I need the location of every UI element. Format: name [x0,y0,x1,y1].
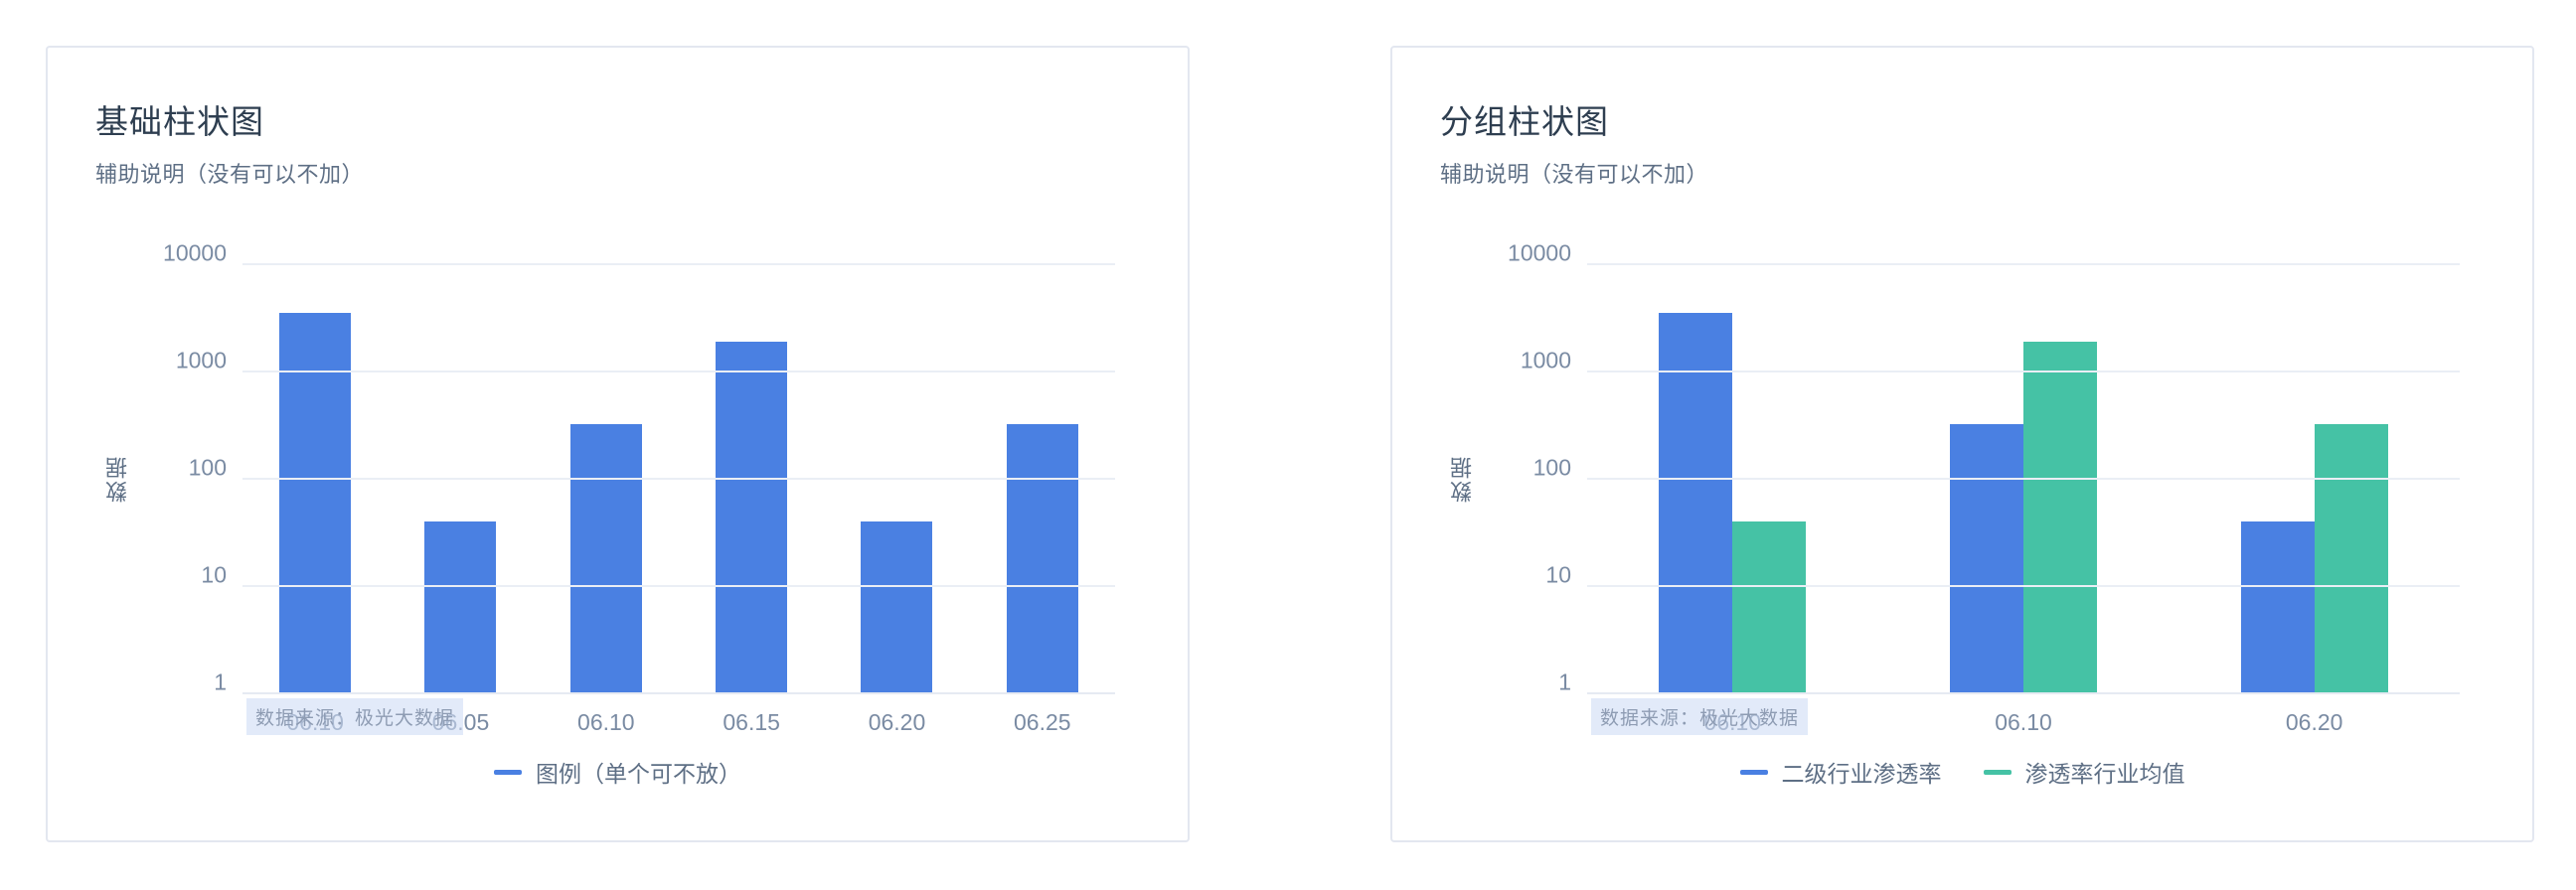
chart-card-grouped-bar: 分组柱状图 辅助说明（没有可以不加） 数据 110100100010000 06… [1390,46,2534,842]
page-root: 基础柱状图 辅助说明（没有可以不加） 数据 110100100010000 06… [0,0,2576,890]
chart-legend: 图例（单个可不放） [95,755,1140,789]
plot-area-grouped-bar [1587,264,2460,693]
y-axis-ticks: 110100100010000 [95,264,242,693]
x-axis-tick-label: 06.15 [679,709,824,736]
gridline [242,585,1115,587]
bar[interactable] [716,342,787,693]
x-axis-tick-label: 06.20 [824,709,969,736]
gridline [242,263,1115,265]
bar[interactable] [570,424,642,693]
chart-subtitle: 辅助说明（没有可以不加） [95,157,364,189]
legend-item[interactable]: 渗透率行业均值 [1984,755,2185,789]
x-axis-tick-label: 06.10 [1878,709,2170,736]
x-axis-tick-label: 06.10 [242,709,388,736]
bar[interactable] [1950,424,2023,693]
y-axis-tick-label: 1 [214,669,227,696]
gridline [1587,692,2460,694]
bar[interactable] [861,521,932,693]
gridline [242,692,1115,694]
chart-subtitle-grouped: 辅助说明（没有可以不加） [1440,157,1708,189]
gridline [1587,263,2460,265]
bar[interactable] [2315,424,2388,693]
x-axis-tick-label: 06.20 [2169,709,2460,736]
chart-basic-bar: 数据 110100100010000 06.1006.0506.1006.150… [95,217,1129,743]
legend-item[interactable]: 二级行业渗透率 [1740,755,1942,789]
x-axis-tick-label: 06.25 [970,709,1115,736]
y-axis-tick-label: 100 [189,455,227,482]
y-axis-tick-label: 10000 [1508,240,1571,267]
gridline [1587,585,2460,587]
legend-marker-icon [1740,770,1768,775]
bar[interactable] [1732,521,1806,693]
chart-grouped-bar: 数据 110100100010000 06.1006.1006.20 数据来源：… [1440,217,2474,743]
page-title-grouped: 分组柱状图 [1440,95,1609,143]
x-axis-tick-label: 06.05 [388,709,533,736]
y-axis-tick-label: 1 [1558,669,1571,696]
y-axis-tick-label: 1000 [176,348,227,374]
y-axis-tick-label: 1000 [1521,348,1571,374]
y-axis-tick-label: 100 [1533,455,1571,482]
chart-card-basic-bar: 基础柱状图 辅助说明（没有可以不加） 数据 110100100010000 06… [46,46,1190,842]
x-axis-tick-label: 06.10 [534,709,679,736]
chart-legend-grouped: 二级行业渗透率渗透率行业均值 [1440,755,2485,789]
x-axis-tick-label: 06.10 [1587,709,1878,736]
gridline [242,371,1115,372]
gridline [242,478,1115,480]
y-axis-tick-label: 10000 [163,240,227,267]
legend-marker-icon [494,770,522,775]
gridline [1587,371,2460,372]
legend-item[interactable]: 图例（单个可不放） [494,755,741,789]
y-axis-tick-label: 10 [201,562,227,589]
legend-marker-icon [1984,770,2012,775]
bar[interactable] [2023,342,2097,693]
legend-item-label: 图例（单个可不放） [536,755,741,789]
x-axis-labels-grouped: 06.1006.1006.20 [1587,709,2460,736]
y-axis-tick-label: 10 [1545,562,1571,589]
plot-area-basic-bar [242,264,1115,693]
bar[interactable] [424,521,496,693]
page-title: 基础柱状图 [95,95,264,143]
legend-item-label: 二级行业渗透率 [1782,755,1942,789]
legend-item-label: 渗透率行业均值 [2025,755,2185,789]
y-axis-ticks-grouped: 110100100010000 [1440,264,1587,693]
gridline [1587,478,2460,480]
bar[interactable] [2241,521,2315,693]
x-axis-labels: 06.1006.0506.1006.1506.2006.25 [242,709,1115,736]
bar[interactable] [1007,424,1078,693]
